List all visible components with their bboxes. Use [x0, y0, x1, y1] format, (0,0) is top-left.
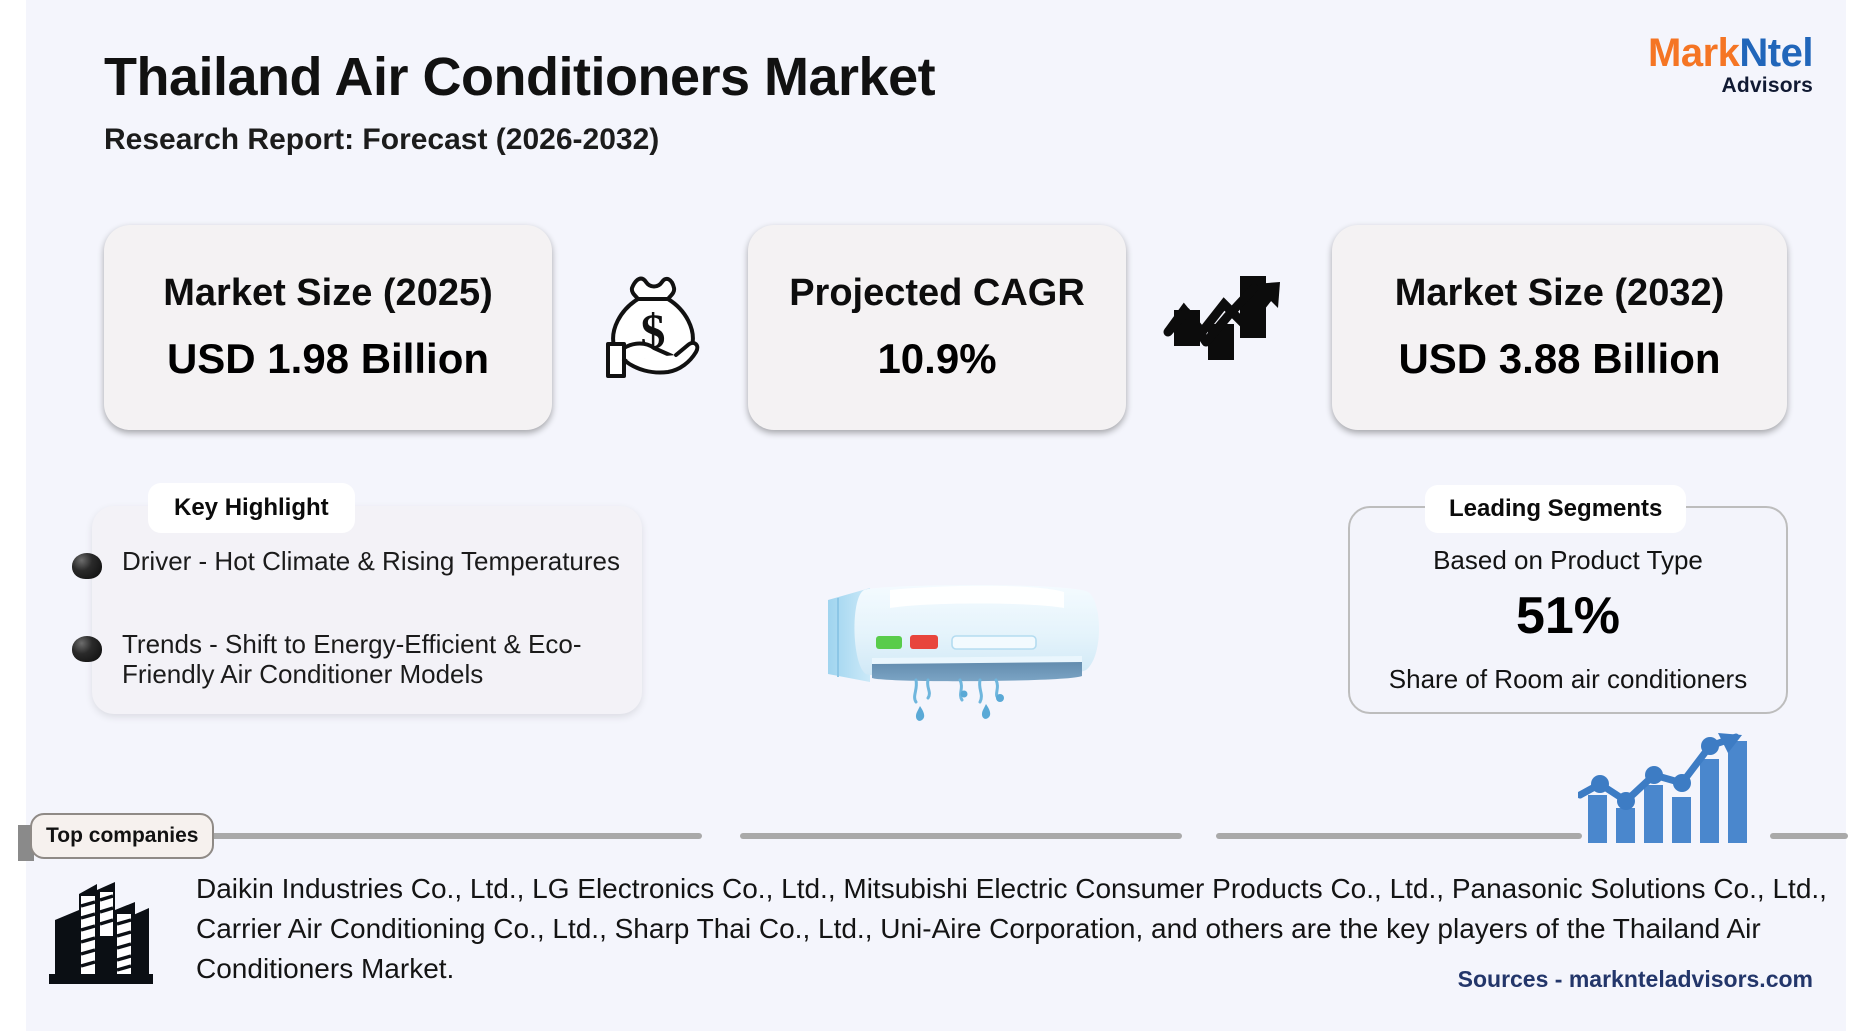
bar-trend-chart-icon	[1578, 733, 1753, 843]
buildings-icon	[45, 880, 157, 986]
money-bag-icon: $	[588, 268, 712, 380]
growth-chart-icon	[1162, 270, 1290, 382]
top-companies-badge: Top companies	[30, 813, 214, 859]
leading-segments-value: 51%	[1348, 586, 1788, 646]
air-conditioner-icon	[820, 578, 1120, 738]
page-title: Thailand Air Conditioners Market	[104, 46, 935, 108]
key-highlight-badge: Key Highlight	[148, 483, 355, 533]
stat-card-market-size-2025: Market Size (2025) USD 1.98 Billion	[104, 225, 552, 430]
logo-ntel-text: Ntel	[1739, 31, 1813, 75]
stat-value: USD 3.88 Billion	[1398, 335, 1720, 383]
divider-segment	[1216, 833, 1582, 839]
stat-value: 10.9%	[877, 335, 996, 383]
leading-segments-badge: Leading Segments	[1425, 485, 1686, 533]
key-highlight-item: Driver - Hot Climate & Rising Temperatur…	[122, 546, 644, 576]
stat-card-projected-cagr: Projected CAGR 10.9%	[748, 225, 1126, 430]
brand-logo: MarkNtel Advisors	[1648, 33, 1813, 96]
stat-value: USD 1.98 Billion	[167, 335, 489, 383]
leading-segments-basis: Based on Product Type	[1348, 545, 1788, 576]
stat-card-market-size-2032: Market Size (2032) USD 3.88 Billion	[1332, 225, 1787, 430]
bullet-icon	[72, 636, 102, 662]
key-highlight-item: Trends - Shift to Energy-Efficient & Eco…	[122, 629, 644, 689]
logo-mark-text: Mark	[1648, 31, 1739, 75]
leading-segments-description: Share of Room air conditioners	[1348, 664, 1788, 695]
stat-label: Market Size (2032)	[1395, 272, 1725, 315]
divider-segment	[188, 833, 702, 839]
divider-segment	[740, 833, 1182, 839]
bullet-icon	[72, 553, 102, 579]
sources-label: Sources - marknteladvisors.com	[1458, 966, 1813, 993]
stat-label: Market Size (2025)	[163, 272, 493, 315]
infographic-canvas: Thailand Air Conditioners Market Researc…	[0, 0, 1875, 1031]
logo-advisors-text: Advisors	[1648, 75, 1813, 96]
divider-segment	[1770, 833, 1848, 839]
stat-label: Projected CAGR	[789, 272, 1085, 315]
page-subtitle: Research Report: Forecast (2026-2032)	[104, 123, 659, 157]
